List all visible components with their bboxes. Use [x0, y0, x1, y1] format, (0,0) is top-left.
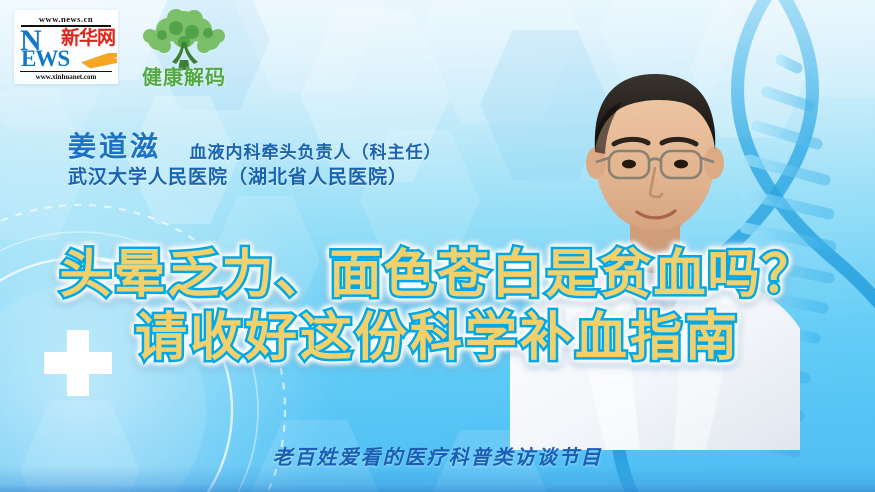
poster-canvas: www.news.cn N EWS 新华网 www.xinhuanet.com — [0, 0, 875, 492]
headline-line-1: 头晕乏力、面色苍白是贫血吗？ — [0, 244, 875, 307]
xinhua-top-url: www.news.cn — [15, 14, 117, 24]
program-name: 健康解码 — [128, 61, 240, 90]
xinhua-mark: N EWS 新华网 — [15, 27, 117, 71]
xinhua-cn-name: 新华网 — [61, 29, 115, 48]
swoosh-icon — [81, 53, 118, 69]
guest-name: 姜道滋 — [68, 133, 161, 161]
xinhua-bottom-url: www.xinhuanet.com — [20, 71, 112, 81]
guest-hospital: 武汉大学人民医院（湖北省人民医院） — [68, 168, 441, 187]
guest-title: 血液内科牵头负责人（科主任） — [189, 144, 441, 161]
headline-line-2: 请收好这份科学补血指南 — [0, 307, 875, 370]
xinhua-logo[interactable]: www.news.cn N EWS 新华网 www.xinhuanet.com — [14, 10, 118, 84]
headline: 头晕乏力、面色苍白是贫血吗？ 请收好这份科学补血指南 — [0, 244, 875, 371]
xinhua-letters-ews: EWS — [21, 47, 69, 70]
bottom-gradient-bar — [0, 466, 875, 492]
program-logo[interactable]: 健康解码 — [128, 8, 240, 92]
guest-info: 姜道滋 血液内科牵头负责人（科主任） 武汉大学人民医院（湖北省人民医院） — [68, 133, 441, 187]
